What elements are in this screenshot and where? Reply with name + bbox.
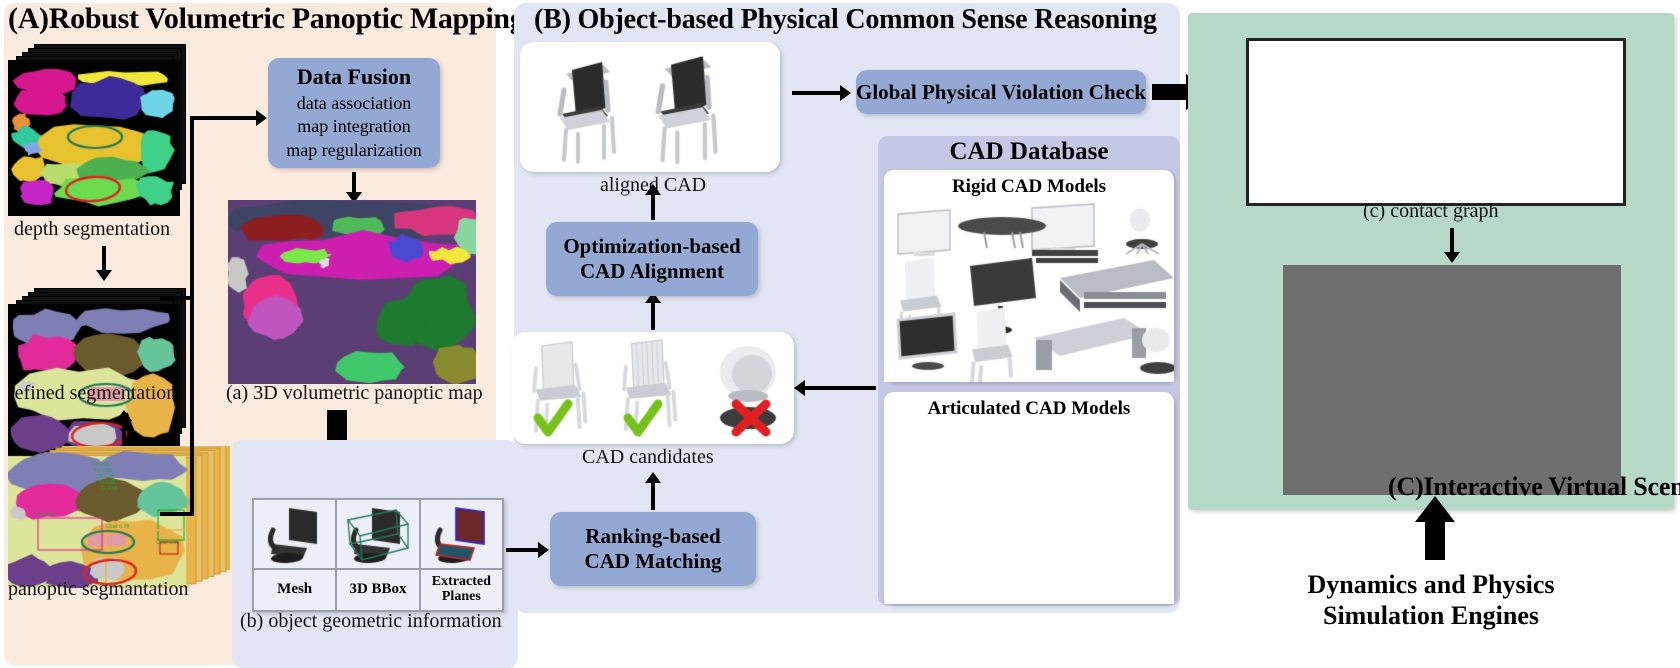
arrow-fusion-to-map — [352, 172, 356, 194]
arrow-caddb-to-candidates — [802, 386, 876, 390]
optimization-cad-alignment-box[interactable]: Optimization-based CAD Alignment — [546, 222, 758, 296]
ranking-line-1: Ranking-based — [585, 524, 720, 549]
simulation-engines-label: Dynamics and Physics Simulation Engines — [1188, 570, 1674, 631]
arrow-ranking-to-candidates — [651, 480, 655, 510]
geo-mesh-image — [254, 500, 335, 568]
data-fusion-title: Data Fusion — [297, 64, 411, 90]
optimization-line-1: Optimization-based — [563, 234, 740, 259]
arrow-simulation-to-scene-head — [1415, 496, 1455, 522]
data-fusion-box[interactable]: Data Fusion data association map integra… — [268, 58, 440, 168]
arrow-panoptic-to-refined-head — [116, 410, 132, 421]
interactive-virtual-scene-image — [1283, 265, 1621, 495]
data-fusion-line-2: map regularization — [286, 139, 421, 162]
arrow-ranking-to-candidates-head — [645, 472, 661, 483]
geo-planes-label: Extracted Planes — [421, 568, 502, 610]
global-violation-check-box[interactable]: Global Physical Violation Check — [856, 70, 1146, 114]
panel-b-title: (B) Object-based Physical Common Sense R… — [534, 4, 1157, 36]
volumetric-map-caption: (a) 3D volumetric panoptic map — [226, 382, 483, 405]
geo-bbox-image — [337, 500, 418, 568]
cad-candidates-image — [512, 332, 794, 444]
rigid-cad-title: Rigid CAD Models — [884, 176, 1174, 198]
articulated-cad-title: Articulated CAD Models — [884, 398, 1174, 420]
geo-col-mesh: Mesh — [254, 500, 337, 610]
data-fusion-line-0: data association — [297, 92, 411, 115]
depth-segmentation-caption: depth segmentation — [14, 218, 170, 241]
geo-planes-image — [421, 500, 502, 568]
geo-col-planes: Extracted Planes — [421, 500, 502, 610]
refined-segmentation-caption: refined segmentation — [8, 382, 176, 405]
simulation-line-1: Dynamics and Physics — [1188, 570, 1674, 601]
object-geometry-table: Mesh 3D BBox Extracted Planes — [252, 498, 504, 612]
global-violation-check-label: Global Physical Violation Check — [856, 80, 1146, 105]
arrow-caddb-to-candidates-head — [794, 380, 805, 396]
panoptic-segmentation-caption: panoptic segmantation — [8, 578, 189, 601]
panel-c-title-text: Interactive Virtual Scene — [1424, 472, 1680, 501]
contact-graph-caption: (c) contact graph — [1363, 200, 1498, 223]
articulated-cad-models-image — [884, 422, 1174, 604]
articulated-cad-card: Articulated CAD Models — [884, 392, 1174, 604]
panel-a-title-text: Robust Volumetric Panoptic Mapping — [49, 2, 525, 35]
ranking-cad-matching-box[interactable]: Ranking-based CAD Matching — [550, 512, 756, 586]
connector-to-fusion — [190, 116, 258, 120]
aligned-cad-image — [520, 42, 780, 172]
simulation-line-2: Simulation Engines — [1188, 601, 1674, 632]
optimization-line-2: CAD Alignment — [580, 259, 724, 284]
arrow-depth-to-refined — [102, 246, 106, 272]
rigid-cad-models-image — [884, 200, 1174, 382]
panel-a-tag: (A) — [8, 2, 49, 35]
arrow-simulation-to-scene — [1425, 520, 1445, 560]
arrow-aligned-to-violation-head — [840, 85, 851, 101]
figure-root: (A)Robust Volumetric Panoptic Mapping de… — [0, 0, 1680, 668]
volumetric-map-image — [228, 200, 476, 384]
arrow-geo-to-ranking — [506, 548, 540, 552]
arrow-candidates-to-optimization — [651, 300, 655, 330]
connector-to-fusion-head — [256, 110, 267, 126]
aligned-cad-card — [520, 42, 780, 172]
arrow-aligned-to-violation — [792, 91, 842, 95]
arrow-geo-to-ranking-head — [538, 542, 549, 558]
arrow-panoptic-to-refined — [122, 418, 126, 446]
connector-from-panoptic — [160, 512, 192, 516]
aligned-cad-caption: aligned CAD — [600, 174, 706, 197]
panel-b-title-text: Object-based Physical Common Sense Reaso… — [578, 4, 1157, 35]
connector-from-refined — [160, 296, 192, 300]
arrow-graph-to-scene — [1450, 228, 1454, 254]
rigid-cad-card: Rigid CAD Models — [884, 170, 1174, 382]
contact-graph-svg — [1249, 41, 1623, 203]
panoptic-segmentation-image — [8, 446, 230, 588]
geo-col-bbox: 3D BBox — [337, 500, 420, 610]
contact-graph-frame — [1246, 38, 1626, 206]
object-geometry-caption: (b) object geometric information — [240, 610, 502, 633]
arrow-violation-to-contact-graph — [1152, 84, 1188, 100]
panel-a-title: (A)Robust Volumetric Panoptic Mapping — [8, 2, 524, 36]
cad-candidates-caption: CAD candidates — [582, 446, 714, 469]
ranking-line-2: CAD Matching — [584, 549, 721, 574]
cad-database-title: CAD Database — [878, 138, 1180, 166]
panel-b-tag: (B) — [534, 4, 571, 35]
arrow-graph-to-scene-head — [1444, 252, 1460, 263]
geo-bbox-label: 3D BBox — [337, 568, 418, 610]
arrow-depth-to-refined-head — [96, 270, 112, 281]
geo-mesh-label: Mesh — [254, 568, 335, 610]
cad-candidates-card — [512, 332, 794, 444]
depth-segmentation-image — [8, 60, 180, 216]
connector-vertical-a — [190, 116, 194, 516]
data-fusion-line-1: map integration — [297, 115, 410, 138]
